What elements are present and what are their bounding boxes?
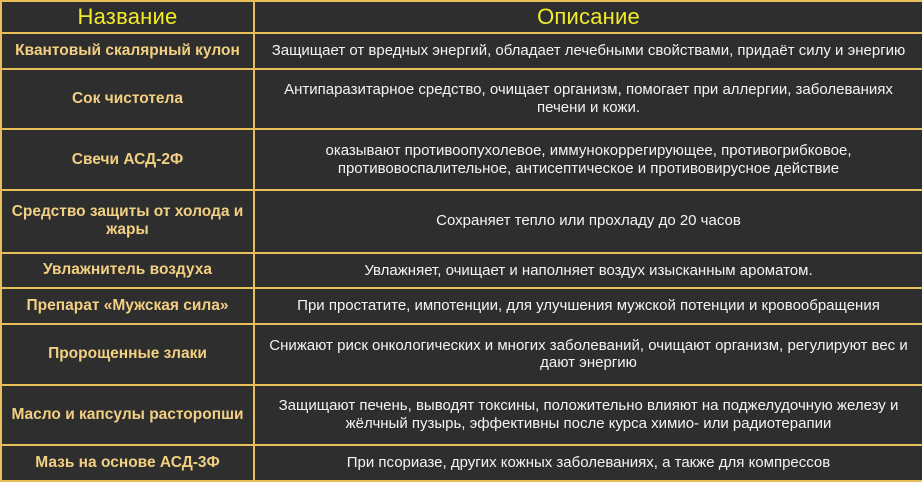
- product-name-cell: Пророщенные злаки: [1, 324, 254, 385]
- table-row: Увлажнитель воздухаУвлажняет, очищает и …: [1, 253, 922, 289]
- product-name-cell: Квантовый скалярный кулон: [1, 33, 254, 69]
- product-description-cell: При простатите, импотенции, для улучшени…: [254, 288, 922, 324]
- table-header-row: Название Описание: [1, 1, 922, 33]
- product-description-cell: Антипаразитарное средство, очищает орган…: [254, 69, 922, 130]
- product-name-cell: Мазь на основе АСД-3Ф: [1, 445, 254, 481]
- table-body: Квантовый скалярный кулонЗащищает от вре…: [1, 33, 922, 481]
- product-description-cell: При псориазе, других кожных заболеваниях…: [254, 445, 922, 481]
- table-row: Сок чистотелаАнтипаразитарное средство, …: [1, 69, 922, 130]
- product-name-cell: Сок чистотела: [1, 69, 254, 130]
- product-table-container: Название Описание Квантовый скалярный ку…: [0, 0, 922, 482]
- product-description-cell: оказывают противоопухолевое, иммунокорре…: [254, 129, 922, 190]
- product-name-cell: Свечи АСД-2Ф: [1, 129, 254, 190]
- table-row: Препарат «Мужская сила»При простатите, и…: [1, 288, 922, 324]
- product-table: Название Описание Квантовый скалярный ку…: [0, 0, 922, 482]
- product-name-cell: Средство защиты от холода и жары: [1, 190, 254, 252]
- table-row: Пророщенные злакиСнижают риск онкологиче…: [1, 324, 922, 385]
- product-name-cell: Увлажнитель воздуха: [1, 253, 254, 289]
- table-row: Средство защиты от холода и жарыСохраняе…: [1, 190, 922, 252]
- product-description-cell: Снижают риск онкологических и многих заб…: [254, 324, 922, 385]
- table-row: Свечи АСД-2Фоказывают противоопухолевое,…: [1, 129, 922, 190]
- product-description-cell: Защищают печень, выводят токсины, положи…: [254, 385, 922, 446]
- column-header-description: Описание: [254, 1, 922, 33]
- table-row: Мазь на основе АСД-3ФПри псориазе, други…: [1, 445, 922, 481]
- product-description-cell: Увлажняет, очищает и наполняет воздух из…: [254, 253, 922, 289]
- product-description-cell: Сохраняет тепло или прохладу до 20 часов: [254, 190, 922, 252]
- product-description-cell: Защищает от вредных энергий, обладает ле…: [254, 33, 922, 69]
- product-name-cell: Препарат «Мужская сила»: [1, 288, 254, 324]
- column-header-name: Название: [1, 1, 254, 33]
- table-header: Название Описание: [1, 1, 922, 33]
- table-row: Масло и капсулы расторопшиЗащищают печен…: [1, 385, 922, 446]
- product-name-cell: Масло и капсулы расторопши: [1, 385, 254, 446]
- table-row: Квантовый скалярный кулонЗащищает от вре…: [1, 33, 922, 69]
